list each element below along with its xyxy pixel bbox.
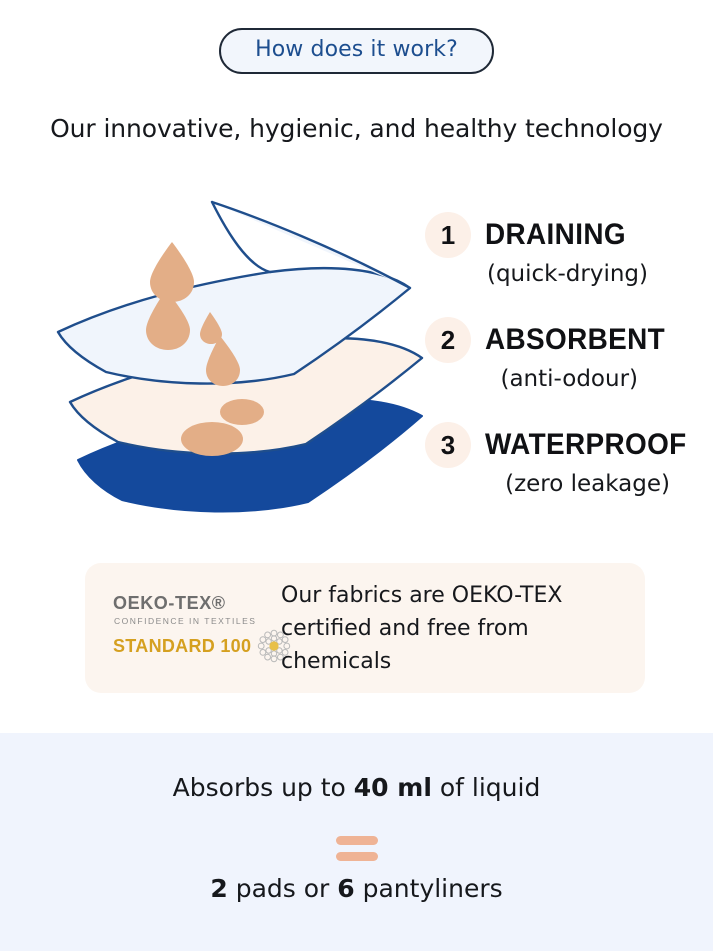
feature-list: 1 DRAINING (quick-drying) 2 ABSORBENT (a… bbox=[425, 212, 700, 497]
feature-item-absorbent: 2 ABSORBENT (anti-odour) bbox=[425, 317, 700, 392]
pantyliners-label: pantyliners bbox=[355, 874, 503, 903]
feature-title: ABSORBENT bbox=[485, 323, 665, 357]
page-subtitle: Our innovative, hygienic, and healthy te… bbox=[0, 114, 713, 143]
oeko-tex-badge-title: OEKO-TEX® bbox=[113, 593, 277, 614]
feature-subtitle: (zero leakage) bbox=[425, 471, 700, 497]
feature-title: DRAINING bbox=[485, 218, 626, 252]
feature-number-badge: 3 bbox=[425, 422, 471, 468]
certification-description-line2: certified and free from chemicals bbox=[281, 612, 645, 678]
certification-description: Our fabrics are OEKO-TEX certified and f… bbox=[277, 579, 645, 678]
equals-bar-top bbox=[336, 836, 378, 845]
pads-count: 2 bbox=[210, 874, 227, 903]
feature-item-draining: 1 DRAINING (quick-drying) bbox=[425, 212, 700, 287]
equals-icon bbox=[0, 836, 713, 861]
absorbency-prefix: Absorbs up to bbox=[173, 773, 354, 802]
oeko-tex-badge-tagline: CONFIDENCE IN TEXTILES bbox=[114, 616, 277, 626]
feature-number-badge: 2 bbox=[425, 317, 471, 363]
equals-bar-bottom bbox=[336, 852, 378, 861]
oeko-tex-certification-card: OEKO-TEX® CONFIDENCE IN TEXTILES STANDAR… bbox=[85, 563, 645, 693]
feature-item-waterproof: 3 WATERPROOF (zero leakage) bbox=[425, 422, 700, 497]
pantyliners-count: 6 bbox=[337, 874, 354, 903]
droplet-stain-small bbox=[220, 399, 264, 425]
feature-subtitle: (anti-odour) bbox=[425, 366, 700, 392]
three-layer-fabric-illustration bbox=[50, 190, 425, 520]
header-section: How does it work? bbox=[0, 28, 713, 74]
pads-label: pads or bbox=[228, 874, 338, 903]
feature-row: 1 DRAINING bbox=[425, 212, 700, 258]
oeko-tex-badge: OEKO-TEX® CONFIDENCE IN TEXTILES STANDAR… bbox=[85, 593, 277, 663]
absorbency-amount: 40 ml bbox=[354, 773, 432, 802]
feature-title: WATERPROOF bbox=[485, 428, 687, 462]
feature-subtitle: (quick-drying) bbox=[425, 261, 700, 287]
absorbency-capacity-line: Absorbs up to 40 ml of liquid bbox=[0, 773, 713, 802]
oeko-tex-standard-label: STANDARD 100 bbox=[113, 636, 251, 657]
feature-row: 2 ABSORBENT bbox=[425, 317, 700, 363]
how-does-it-work-pill[interactable]: How does it work? bbox=[219, 28, 494, 74]
droplet-large bbox=[150, 242, 194, 302]
absorbency-suffix: of liquid bbox=[432, 773, 540, 802]
certification-description-line1: Our fabrics are OEKO-TEX bbox=[281, 579, 645, 612]
oeko-tex-standard-row: STANDARD 100 bbox=[113, 629, 277, 663]
absorbency-equivalence-line: 2 pads or 6 pantyliners bbox=[0, 874, 713, 903]
absorbency-band: Absorbs up to 40 ml of liquid 2 pads or … bbox=[0, 733, 713, 951]
feature-row: 3 WATERPROOF bbox=[425, 422, 700, 468]
feature-number-badge: 1 bbox=[425, 212, 471, 258]
droplet-stain-large bbox=[181, 422, 243, 456]
